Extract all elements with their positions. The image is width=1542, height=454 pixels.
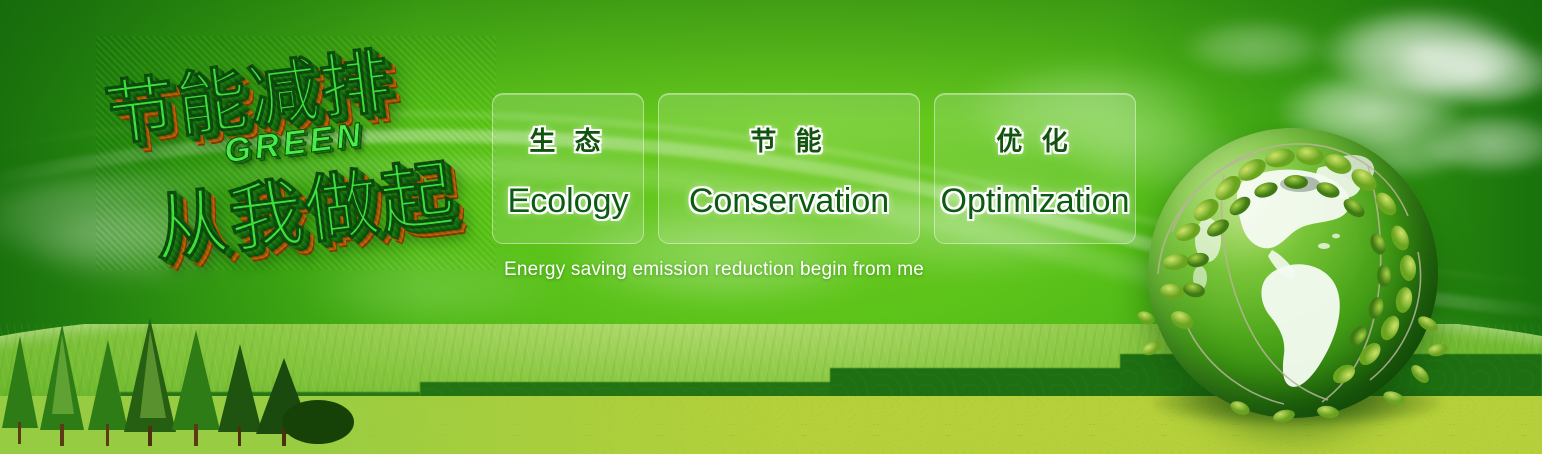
pine-tree-icon [88, 340, 128, 446]
pine-bush-icon [282, 400, 354, 444]
slogan-artwork: 节能减排 GREEN 从我做起 [96, 36, 496, 270]
eco-banner: 节能减排 GREEN 从我做起 生 态 Ecology 节 能 Conserva… [0, 0, 1542, 454]
card-conservation[interactable]: 节 能 Conservation [658, 93, 920, 244]
earth-globe [1148, 128, 1448, 428]
feature-card-group: 生 态 Ecology 节 能 Conservation 优 化 Optimiz… [492, 93, 1136, 244]
card-heading-en: Ecology [508, 182, 629, 221]
pine-tree-icon [2, 336, 38, 444]
slogan-line-2: 从我做起 [147, 134, 462, 277]
card-heading-en: Conservation [689, 182, 889, 221]
globe-highlight [1148, 128, 1438, 418]
tagline: Energy saving emission reduction begin f… [504, 259, 924, 281]
pine-tree-icon [218, 344, 262, 446]
card-optimization[interactable]: 优 化 Optimization [934, 93, 1136, 244]
card-heading-cn: 节 能 [750, 121, 827, 158]
card-heading-cn: 优 化 [996, 121, 1073, 158]
card-heading-cn: 生 态 [529, 121, 606, 158]
pine-tree-group [0, 318, 360, 448]
pine-tree-icon [172, 330, 220, 446]
card-ecology[interactable]: 生 态 Ecology [492, 93, 644, 244]
card-heading-en: Optimization [941, 182, 1130, 221]
